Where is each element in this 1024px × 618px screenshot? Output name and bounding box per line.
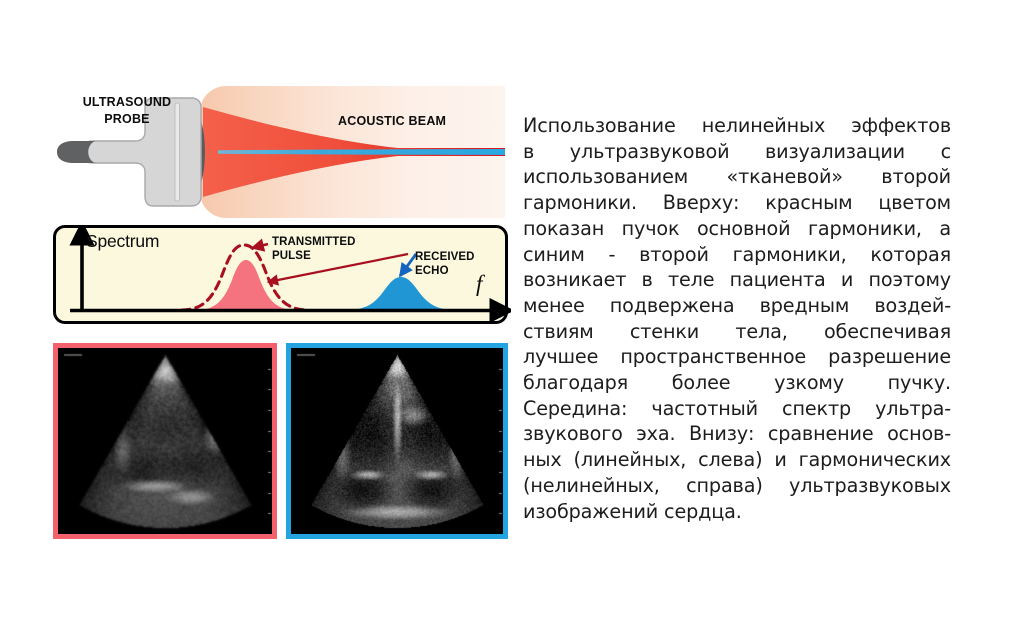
received-echo-curve (346, 277, 456, 310)
caption-line: благодаря более узкому пучку. (523, 370, 951, 396)
caption-line: Середина: частотный спектр ультра- (523, 396, 951, 422)
caption-line: изображений сердца. (523, 499, 951, 525)
acoustic-beam-label: ACOUSTIC BEAM (338, 113, 446, 130)
caption-line: гармоники. Вверху: красным цветом (523, 190, 951, 216)
received-echo-label: RECEIVED ECHO (415, 250, 475, 278)
caption-line: звукового эха. Внизу: сравнение основ- (523, 421, 951, 447)
caption-line: Использование нелинейных эффектов (523, 113, 951, 139)
figure-caption: Использование нелинейных эффектовв ультр… (523, 113, 951, 524)
harmonic-echocardiogram-image (291, 348, 503, 534)
frequency-axis-label: f (476, 270, 482, 298)
caption-line: в ультразвуковой визуализации с (523, 139, 951, 165)
harmonic-echocardiogram-frame (286, 343, 508, 539)
acoustic-beam-panel: ULTRASOUND PROBE ACOUSTIC BEAM (53, 86, 505, 218)
caption-line: менее подвержена вредным воздей- (523, 293, 951, 319)
caption-line: возникает в теле пациента и поэтому (523, 267, 951, 293)
echocardiogram-comparison-panel (53, 343, 508, 539)
ultrasound-probe-label: ULTRASOUND PROBE (68, 94, 186, 127)
spectrum-panel: Spectrum TRANSMITTED PULSE RECEIVED ECHO… (53, 225, 508, 324)
transmitted-pulse-leader (252, 244, 268, 248)
caption-line: использованием «тканевой» второй (523, 164, 951, 190)
transmitted-pulse-curve (196, 260, 296, 310)
caption-line: ствиям стенки тела, обеспечивая (523, 319, 951, 345)
ultrasound-harmonic-imaging-figure: ULTRASOUND PROBE ACOUSTIC BEAM (0, 0, 512, 618)
caption-line: лучшее пространственное разрешение (523, 344, 951, 370)
fundamental-echocardiogram-frame (53, 343, 277, 539)
spectrum-title: Spectrum (86, 231, 159, 252)
received-echo-leader-blue (400, 254, 416, 276)
caption-line: (нелинейных, справа) ультразвуковых (523, 473, 951, 499)
caption-line: показан пучок основной гармоники, а (523, 216, 951, 242)
caption-line: синим - второй гармоники, которая (523, 242, 951, 268)
transmitted-pulse-label: TRANSMITTED PULSE (272, 235, 356, 263)
caption-line: ных (линейных, слева) и гармонических (523, 447, 951, 473)
fundamental-echocardiogram-image (58, 348, 272, 534)
